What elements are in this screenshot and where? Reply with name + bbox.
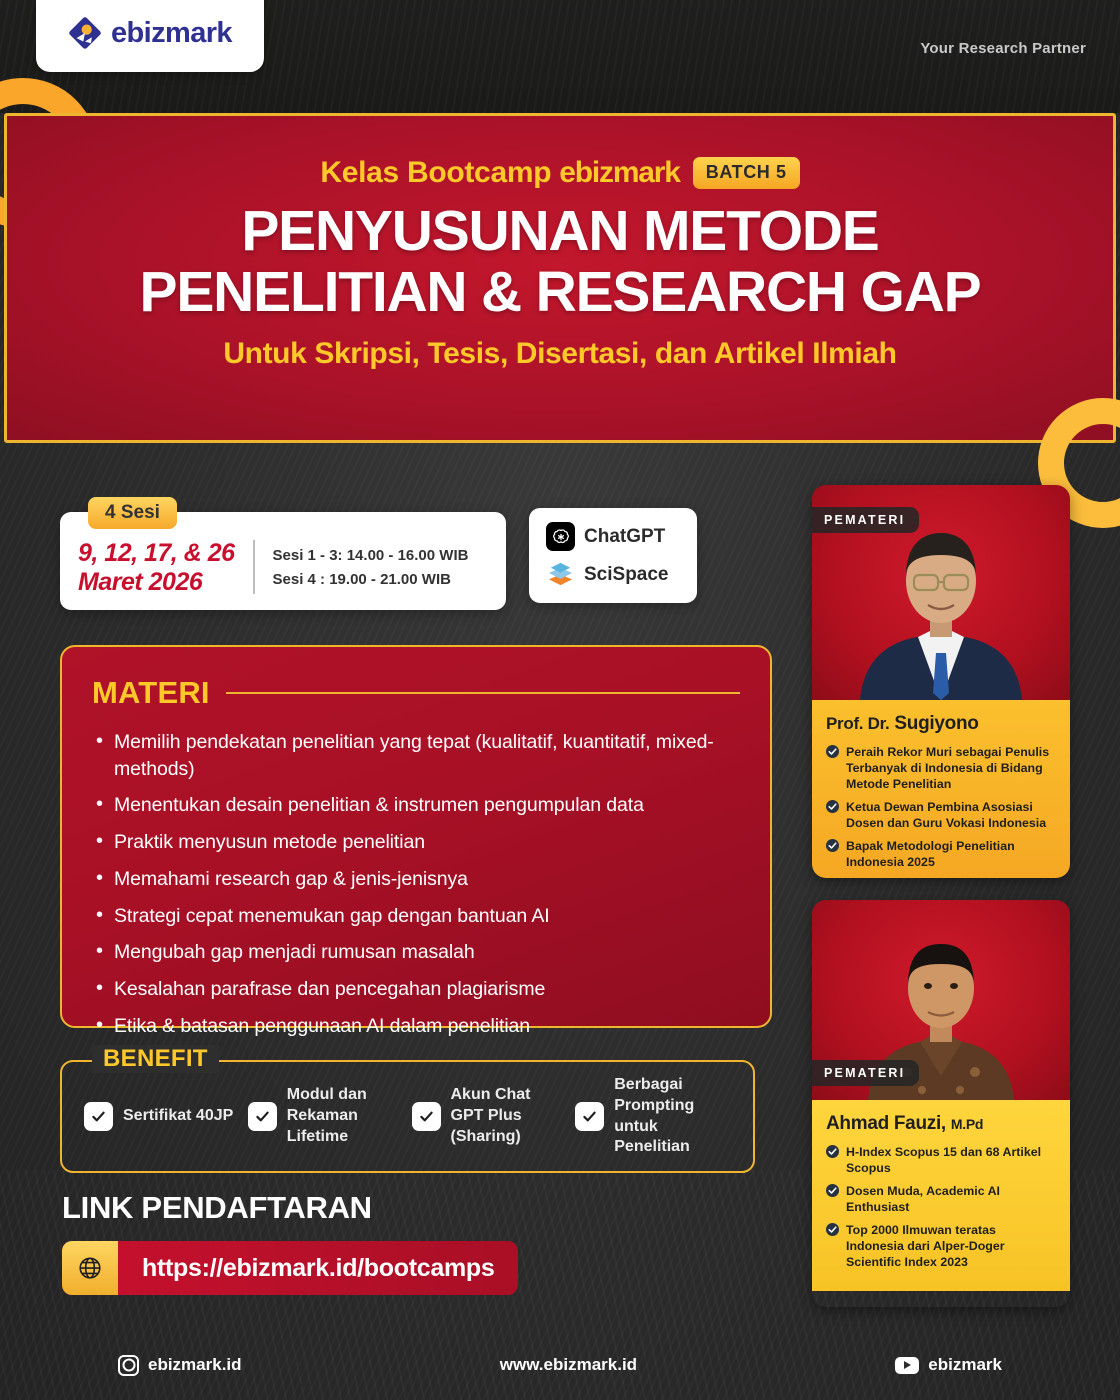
eyebrow-prefix: Kelas Bootcamp xyxy=(320,156,551,189)
speaker-photo: PEMATERI xyxy=(812,900,1070,1100)
list-item: Mengubah gap menjadi rumusan masalah xyxy=(92,939,740,966)
divider xyxy=(253,540,255,594)
list-item: Memahami research gap & jenis-jenisnya xyxy=(92,866,740,893)
tool-item-chatgpt: ChatGPT xyxy=(546,522,697,551)
registration-title: LINK PENDAFTARAN xyxy=(62,1190,372,1226)
speaker-name-suffix: M.Pd xyxy=(951,1116,983,1132)
speaker-credentials: Peraih Rekor Muri sebagai Penulis Terban… xyxy=(826,744,1056,870)
check-icon xyxy=(412,1102,441,1131)
ebizmark-logo: ebizmark xyxy=(36,0,264,72)
list-item: Praktik menyusun metode penelitian xyxy=(92,829,740,856)
check-circle-icon xyxy=(826,839,839,852)
page-title: PENYUSUNAN METODE PENELITIAN & RESEARCH … xyxy=(140,201,981,323)
header-tagline: Your Research Partner xyxy=(920,40,1086,57)
speaker-name-main: Ahmad Fauzi, xyxy=(826,1113,946,1134)
registration-link-button[interactable]: https://ebizmark.id/bootcamps xyxy=(62,1241,518,1295)
registration-url: https://ebizmark.id/bootcamps xyxy=(118,1254,494,1283)
credential-text: H-Index Scopus 15 dan 68 Artikel Scopus xyxy=(846,1145,1041,1175)
list-item: Dosen Muda, Academic AI Enthusiast xyxy=(826,1183,1056,1215)
eyebrow-text: Kelas Bootcamp ebizmark xyxy=(320,156,679,190)
sessions-count-badge: 4 Sesi xyxy=(88,497,177,529)
poster-footer: ebizmark.id www.ebizmark.id ebizmark xyxy=(0,1330,1120,1400)
materi-section: MATERI Memilih pendekatan penelitian yan… xyxy=(60,645,772,1028)
youtube-handle: ebizmark xyxy=(928,1355,1002,1375)
schedule-dates: 9, 12, 17, & 26 Maret 2026 xyxy=(78,525,235,598)
materi-header: MATERI xyxy=(92,675,740,711)
benefit-label: Akun Chat GPT Plus (Sharing) xyxy=(451,1085,568,1147)
instagram-icon xyxy=(118,1355,139,1376)
tool-item-scispace: SciSpace xyxy=(546,560,697,589)
footer-youtube[interactable]: ebizmark xyxy=(895,1355,1002,1375)
credential-text: Bapak Metodologi Penelitian Indonesia 20… xyxy=(846,839,1015,869)
time-row: Sesi 1 - 3: 14.00 - 16.00 WIB xyxy=(273,544,469,568)
list-item: Menentukan desain penelitian & instrumen… xyxy=(92,792,740,819)
list-item: Etika & batasan penggunaan AI dalam pene… xyxy=(92,1013,740,1040)
ebizmark-diamond-logo xyxy=(68,16,102,50)
speaker-credentials: H-Index Scopus 15 dan 68 Artikel Scopus … xyxy=(826,1144,1056,1270)
schedule-times: Sesi 1 - 3: 14.00 - 16.00 WIB Sesi 4 : 1… xyxy=(273,530,469,593)
speaker-card-ahmad-fauzi: PEMATERI Ahmad Fauzi, M.Pd H-Index Scopu… xyxy=(812,900,1070,1307)
batch-badge: BATCH 5 xyxy=(693,157,800,189)
speaker-name-prefix: Prof. Dr. xyxy=(826,714,889,733)
check-circle-icon xyxy=(826,1184,839,1197)
footer-website[interactable]: www.ebizmark.id xyxy=(500,1355,637,1375)
benefit-item: Berbagai Prompting untuk Penelitian xyxy=(575,1075,731,1158)
logo-text: ebizmark xyxy=(111,17,232,50)
check-icon xyxy=(84,1102,113,1131)
speaker-name: Ahmad Fauzi, M.Pd xyxy=(826,1113,1056,1135)
speaker-photo: PEMATERI xyxy=(812,485,1070,700)
globe-icon xyxy=(62,1241,118,1295)
tool-label: ChatGPT xyxy=(584,526,665,548)
benefit-list: Sertifikat 40JP Modul dan Rekaman Lifeti… xyxy=(62,1062,753,1171)
speaker-name-main: Sugiyono xyxy=(894,713,978,734)
title-banner: Kelas Bootcamp ebizmark BATCH 5 PENYUSUN… xyxy=(4,113,1116,443)
speaker-info: Ahmad Fauzi, M.Pd H-Index Scopus 15 dan … xyxy=(812,1100,1070,1291)
list-item: Peraih Rekor Muri sebagai Penulis Terban… xyxy=(826,744,1056,792)
benefit-label: Modul dan Rekaman Lifetime xyxy=(287,1085,404,1147)
list-item: Kesalahan parafrase dan pencegahan plagi… xyxy=(92,976,740,1003)
instagram-handle: ebizmark.id xyxy=(148,1355,242,1375)
footer-instagram[interactable]: ebizmark.id xyxy=(118,1355,242,1376)
benefit-item: Sertifikat 40JP xyxy=(84,1102,240,1131)
time-row: Sesi 4 : 19.00 - 21.00 WIB xyxy=(273,568,469,592)
list-item: H-Index Scopus 15 dan 68 Artikel Scopus xyxy=(826,1144,1056,1176)
credential-text: Dosen Muda, Academic AI Enthusiast xyxy=(846,1184,1000,1214)
check-circle-icon xyxy=(826,800,839,813)
page-subtitle: Untuk Skripsi, Tesis, Disertasi, dan Art… xyxy=(223,337,896,371)
materi-list: Memilih pendekatan penelitian yang tepat… xyxy=(92,729,740,1039)
divider xyxy=(226,692,740,694)
speaker-badge: PEMATERI xyxy=(812,1060,919,1086)
list-item: Bapak Metodologi Penelitian Indonesia 20… xyxy=(826,838,1056,870)
benefit-item: Akun Chat GPT Plus (Sharing) xyxy=(412,1085,568,1147)
benefit-section: BENEFIT Sertifikat 40JP Modul dan Rekama… xyxy=(60,1060,755,1173)
check-icon xyxy=(248,1102,277,1131)
tools-card: ChatGPT SciSpace xyxy=(529,508,697,603)
benefit-label: Sertifikat 40JP xyxy=(123,1106,233,1127)
dates-line-2: Maret 2026 xyxy=(78,568,235,597)
chatgpt-icon xyxy=(546,522,575,551)
check-circle-icon xyxy=(826,745,839,758)
list-item: Ketua Dewan Pembina Asosiasi Dosen dan G… xyxy=(826,799,1056,831)
scispace-icon xyxy=(546,560,575,589)
benefit-label: Berbagai Prompting untuk Penelitian xyxy=(614,1075,731,1158)
benefit-item: Modul dan Rekaman Lifetime xyxy=(248,1085,404,1147)
poster-header: ebizmark Your Research Partner xyxy=(0,0,1120,113)
speaker-info: Prof. Dr. Sugiyono Peraih Rekor Muri seb… xyxy=(812,700,1070,878)
materi-title: MATERI xyxy=(92,675,210,711)
credential-text: Top 2000 Ilmuwan teratas Indonesia dari … xyxy=(846,1223,1005,1269)
check-circle-icon xyxy=(826,1145,839,1158)
tool-label: SciSpace xyxy=(584,564,669,586)
title-line-2: PENELITIAN & RESEARCH GAP xyxy=(140,262,981,323)
dates-line-1: 9, 12, 17, & 26 xyxy=(78,539,235,568)
credential-text: Peraih Rekor Muri sebagai Penulis Terban… xyxy=(846,745,1049,791)
speaker-badge: PEMATERI xyxy=(812,507,919,533)
check-circle-icon xyxy=(826,1223,839,1236)
benefit-title: BENEFIT xyxy=(92,1045,219,1073)
check-icon xyxy=(575,1102,604,1131)
list-item: Strategi cepat menemukan gap dengan bant… xyxy=(92,903,740,930)
title-line-1: PENYUSUNAN METODE xyxy=(140,201,981,262)
youtube-icon xyxy=(895,1357,919,1374)
banner-eyebrow: Kelas Bootcamp ebizmark BATCH 5 xyxy=(320,156,799,190)
speaker-card-sugiyono: PEMATERI Prof. Dr. Sugiyono Peraih Rekor… xyxy=(812,485,1070,878)
eyebrow-brand: ebizmark xyxy=(559,156,679,189)
list-item: Memilih pendekatan penelitian yang tepat… xyxy=(92,729,740,782)
speaker-name: Prof. Dr. Sugiyono xyxy=(826,713,1056,735)
credential-text: Ketua Dewan Pembina Asosiasi Dosen dan G… xyxy=(846,800,1046,830)
list-item: Top 2000 Ilmuwan teratas Indonesia dari … xyxy=(826,1222,1056,1270)
